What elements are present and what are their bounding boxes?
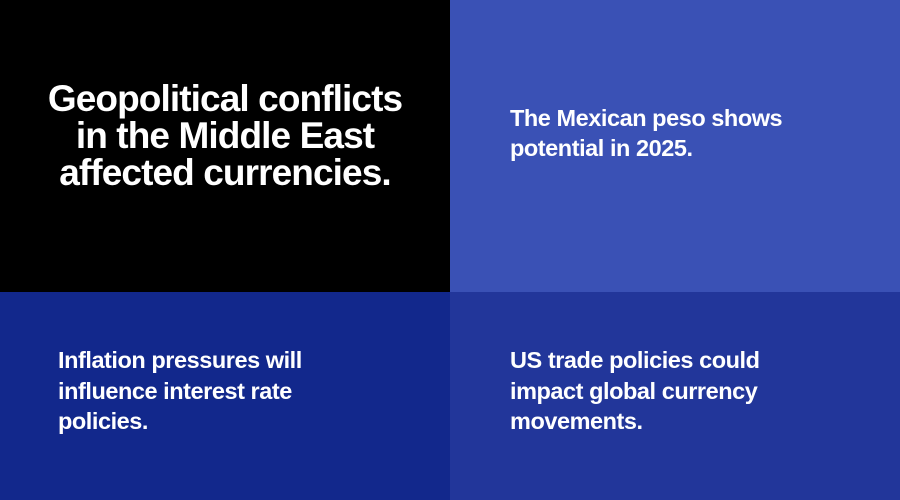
hero-headline: Geopolitical conflicts in the Middle Eas… xyxy=(45,80,405,191)
panel-mexican-peso[interactable]: The Mexican peso shows potential in 2025… xyxy=(450,0,900,292)
inflation-statement: Inflation pressures will influence inter… xyxy=(58,345,302,437)
trade-statement: US trade policies could impact global cu… xyxy=(510,345,760,437)
panel-us-trade-policies[interactable]: US trade policies could impact global cu… xyxy=(450,292,900,500)
quadrant-card-board: Geopolitical conflicts in the Middle Eas… xyxy=(0,0,900,500)
peso-statement: The Mexican peso shows potential in 2025… xyxy=(510,103,782,164)
panel-inflation-pressures[interactable]: Inflation pressures will influence inter… xyxy=(0,292,450,500)
panel-geopolitical-conflicts[interactable]: Geopolitical conflicts in the Middle Eas… xyxy=(0,0,450,292)
